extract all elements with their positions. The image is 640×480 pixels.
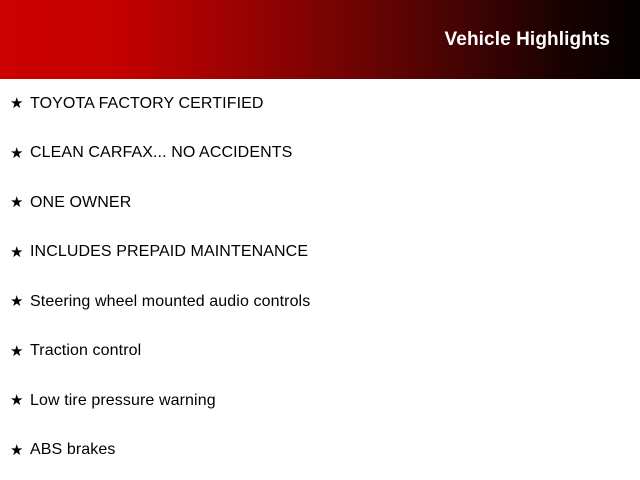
page-title: Vehicle Highlights bbox=[445, 29, 610, 51]
list-item-label: Steering wheel mounted audio controls bbox=[30, 292, 310, 312]
list-item: ★ ABS brakes bbox=[0, 426, 640, 476]
list-item: ★ ONE OWNER bbox=[0, 178, 640, 228]
list-item-label: TOYOTA FACTORY CERTIFIED bbox=[30, 94, 264, 114]
star-icon: ★ bbox=[10, 195, 30, 210]
star-icon: ★ bbox=[10, 443, 30, 458]
star-icon: ★ bbox=[10, 96, 30, 111]
list-item-label: Low tire pressure warning bbox=[30, 391, 216, 411]
list-item: ★ CLEAN CARFAX... NO ACCIDENTS bbox=[0, 129, 640, 179]
star-icon: ★ bbox=[10, 245, 30, 260]
star-icon: ★ bbox=[10, 393, 30, 408]
list-item-label: Traction control bbox=[30, 341, 141, 361]
star-icon: ★ bbox=[10, 146, 30, 161]
list-item: ★ Low tire pressure warning bbox=[0, 376, 640, 426]
header-banner: Vehicle Highlights bbox=[0, 0, 640, 79]
list-item: ★ INCLUDES PREPAID MAINTENANCE bbox=[0, 228, 640, 278]
highlights-list: ★ TOYOTA FACTORY CERTIFIED ★ CLEAN CARFA… bbox=[0, 79, 640, 475]
list-item: ★ Traction control bbox=[0, 327, 640, 377]
list-item: ★ Steering wheel mounted audio controls bbox=[0, 277, 640, 327]
list-item-label: ABS brakes bbox=[30, 440, 115, 460]
vehicle-highlights-panel: Vehicle Highlights ★ TOYOTA FACTORY CERT… bbox=[0, 0, 640, 480]
list-item-label: CLEAN CARFAX... NO ACCIDENTS bbox=[30, 143, 292, 163]
list-item-label: INCLUDES PREPAID MAINTENANCE bbox=[30, 242, 308, 262]
list-item: ★ TOYOTA FACTORY CERTIFIED bbox=[0, 79, 640, 129]
star-icon: ★ bbox=[10, 344, 30, 359]
star-icon: ★ bbox=[10, 294, 30, 309]
list-item-label: ONE OWNER bbox=[30, 193, 131, 213]
